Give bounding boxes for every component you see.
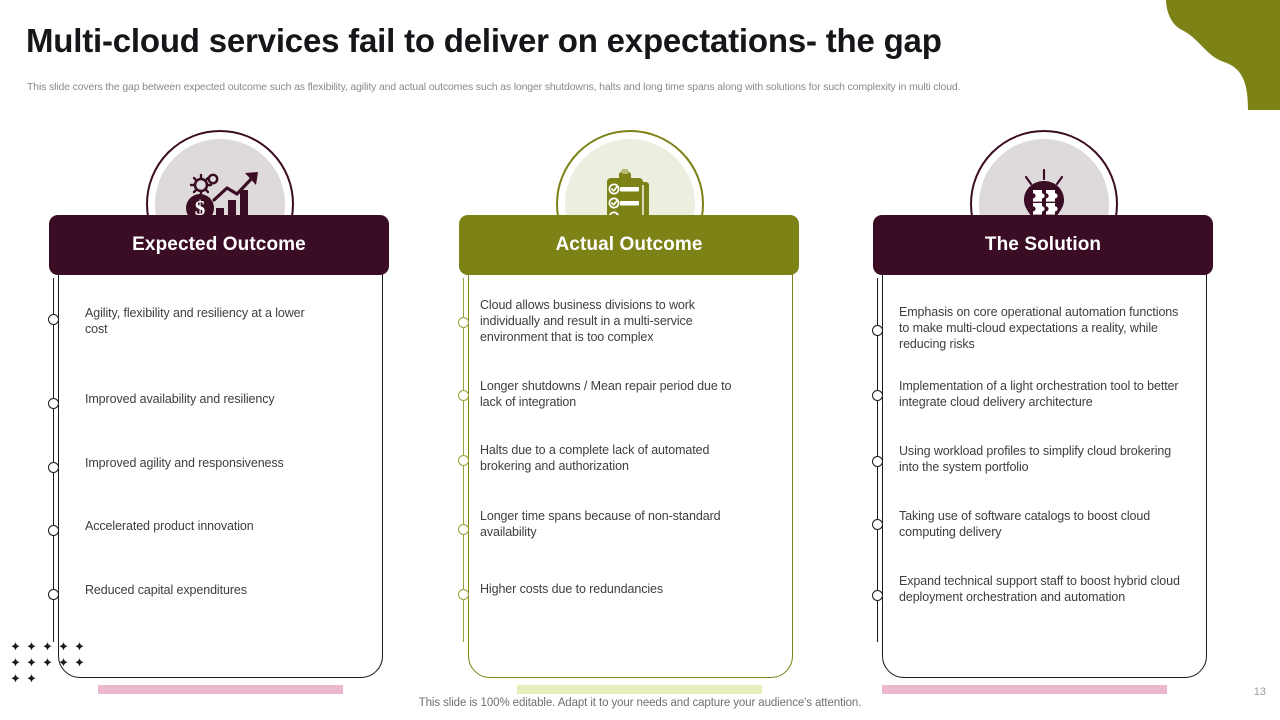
page-subtitle: This slide covers the gap between expect… [27, 80, 1157, 94]
timeline-node [458, 455, 469, 466]
timeline-node [458, 524, 469, 535]
list-item: Emphasis on core operational automation … [899, 304, 1189, 352]
timeline-node [458, 390, 469, 401]
timeline-node [458, 317, 469, 328]
accent-bar-the-solution [882, 685, 1167, 694]
timeline-expected-outcome [53, 278, 55, 642]
columns-container: $ Expected Outcome [0, 130, 1280, 670]
list-item: Improved availability and resiliency [85, 391, 275, 407]
timeline-node [48, 462, 59, 473]
list-item: Longer shutdowns / Mean repair period du… [480, 378, 755, 410]
timeline-node [48, 525, 59, 536]
timeline-node [48, 398, 59, 409]
accent-bar-actual-outcome [517, 685, 762, 694]
list-item: Longer time spans because of non-standar… [480, 508, 755, 540]
list-item: Cloud allows business divisions to work … [480, 297, 755, 345]
timeline-node [458, 589, 469, 600]
timeline-node [48, 589, 59, 600]
list-item: Taking use of software catalogs to boost… [899, 508, 1189, 540]
timeline-node [872, 590, 883, 601]
column-expected-outcome: $ Expected Outcome [25, 130, 415, 670]
timeline-actual-outcome [463, 278, 465, 642]
list-item: Accelerated product innovation [85, 518, 254, 534]
header-label: The Solution [985, 234, 1101, 256]
header-the-solution[interactable]: The Solution [873, 215, 1213, 275]
list-item: Higher costs due to redundancies [480, 581, 663, 597]
header-label: Actual Outcome [555, 234, 702, 256]
header-expected-outcome[interactable]: Expected Outcome [49, 215, 389, 275]
timeline-node [872, 519, 883, 530]
timeline-node [872, 456, 883, 467]
card-expected-outcome [58, 218, 383, 678]
accent-bar-expected-outcome [98, 685, 343, 694]
column-actual-outcome: Actual Outcome Cloud allows business div… [435, 130, 825, 670]
timeline-node [872, 390, 883, 401]
list-item: Halts due to a complete lack of automate… [480, 442, 755, 474]
page-number: 13 [1254, 686, 1266, 698]
timeline-node [872, 325, 883, 336]
list-item: Reduced capital expenditures [85, 582, 247, 598]
header-label: Expected Outcome [132, 234, 306, 256]
timeline-node [48, 314, 59, 325]
list-item: Implementation of a light orchestration … [899, 378, 1189, 410]
list-item: Expand technical support staff to boost … [899, 573, 1189, 605]
timeline-the-solution [877, 278, 879, 642]
page-title: Multi-cloud services fail to deliver on … [26, 22, 942, 60]
list-item: Improved agility and responsiveness [85, 455, 284, 471]
decorative-plus-grid: ✦ ✦ ✦ ✦ ✦ ✦ ✦ ✦ ✦ ✦ ✦ ✦ [8, 641, 98, 687]
column-the-solution: The Solution Emphasis on core operationa… [849, 130, 1239, 670]
list-item: Using workload profiles to simplify clou… [899, 443, 1189, 475]
header-actual-outcome[interactable]: Actual Outcome [459, 215, 799, 275]
list-item: Agility, flexibility and resiliency at a… [85, 305, 330, 337]
footer-note: This slide is 100% editable. Adapt it to… [0, 697, 1280, 709]
